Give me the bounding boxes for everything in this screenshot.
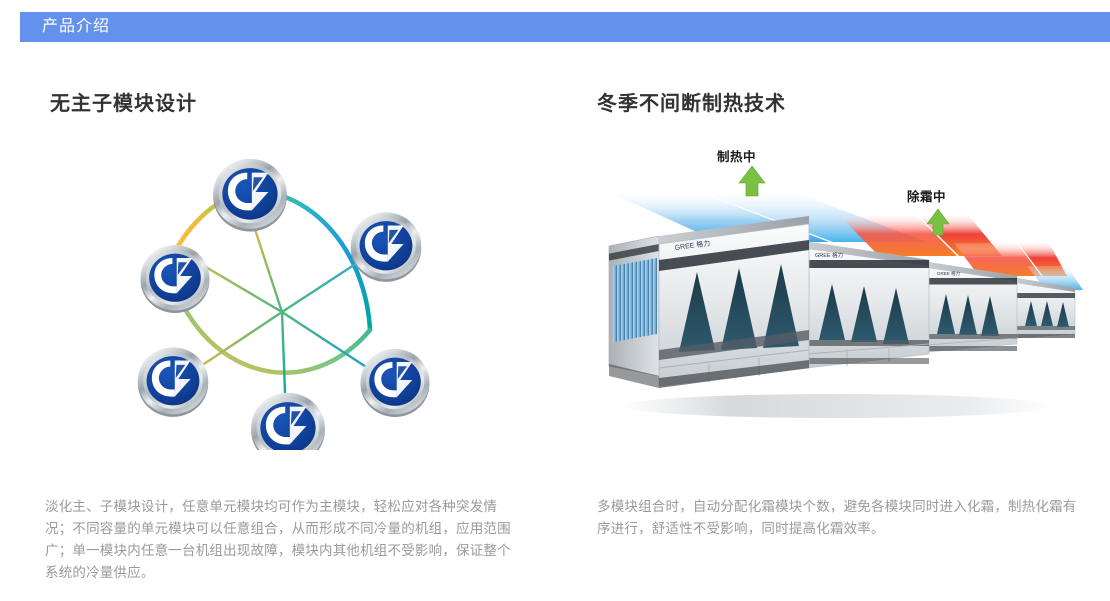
ground-shadow (622, 394, 1052, 418)
module-node (361, 349, 430, 417)
section-winter-continuous-heating: 冬季不间断制热技术 (555, 72, 1110, 592)
unit-brand-mark: GREE 格力 (815, 251, 843, 259)
section-body-left: 淡化主、子模块设计，任意单元模块均可作为主模块，轻松应对各种突发情况；不同容量的… (45, 496, 515, 584)
section-title-left: 无主子模块设计 (50, 72, 555, 116)
modular-chiller-array: GREE 格力 GREE 格力 (597, 138, 1110, 448)
callout-heating: 制热中 (717, 146, 756, 165)
chiller-unit-2: GREE 格力 (807, 242, 929, 368)
content-columns: 无主子模块设计 (0, 72, 1110, 592)
module-ring-svg (50, 130, 520, 450)
module-node (251, 393, 325, 450)
chiller-unit-4 (1015, 278, 1075, 338)
module-ring-diagram (50, 130, 555, 450)
module-node (138, 347, 208, 417)
module-node (141, 245, 210, 313)
callout-defrost: 除霜中 (907, 186, 946, 205)
module-node (351, 212, 421, 282)
page-header-bar: 产品介绍 (20, 12, 1110, 42)
section-no-master-slave-module: 无主子模块设计 (0, 72, 555, 592)
section-body-right: 多模块组合时，自动分配化霜模块个数，避免各模块同时进入化霜，制热化霜有序进行，舒… (597, 496, 1077, 540)
unit-brand-mark: GREE 格力 (937, 270, 961, 277)
arrow-heating-icon (739, 166, 765, 196)
chiller-unit-3: GREE 格力 (927, 262, 1017, 352)
chiller-unit-1: GREE 格力 (609, 216, 809, 388)
page-title: 产品介绍 (42, 19, 110, 35)
module-node (213, 159, 287, 232)
section-title-right: 冬季不间断制热技术 (597, 72, 1110, 116)
chiller-array-svg: GREE 格力 GREE 格力 (597, 138, 1097, 438)
